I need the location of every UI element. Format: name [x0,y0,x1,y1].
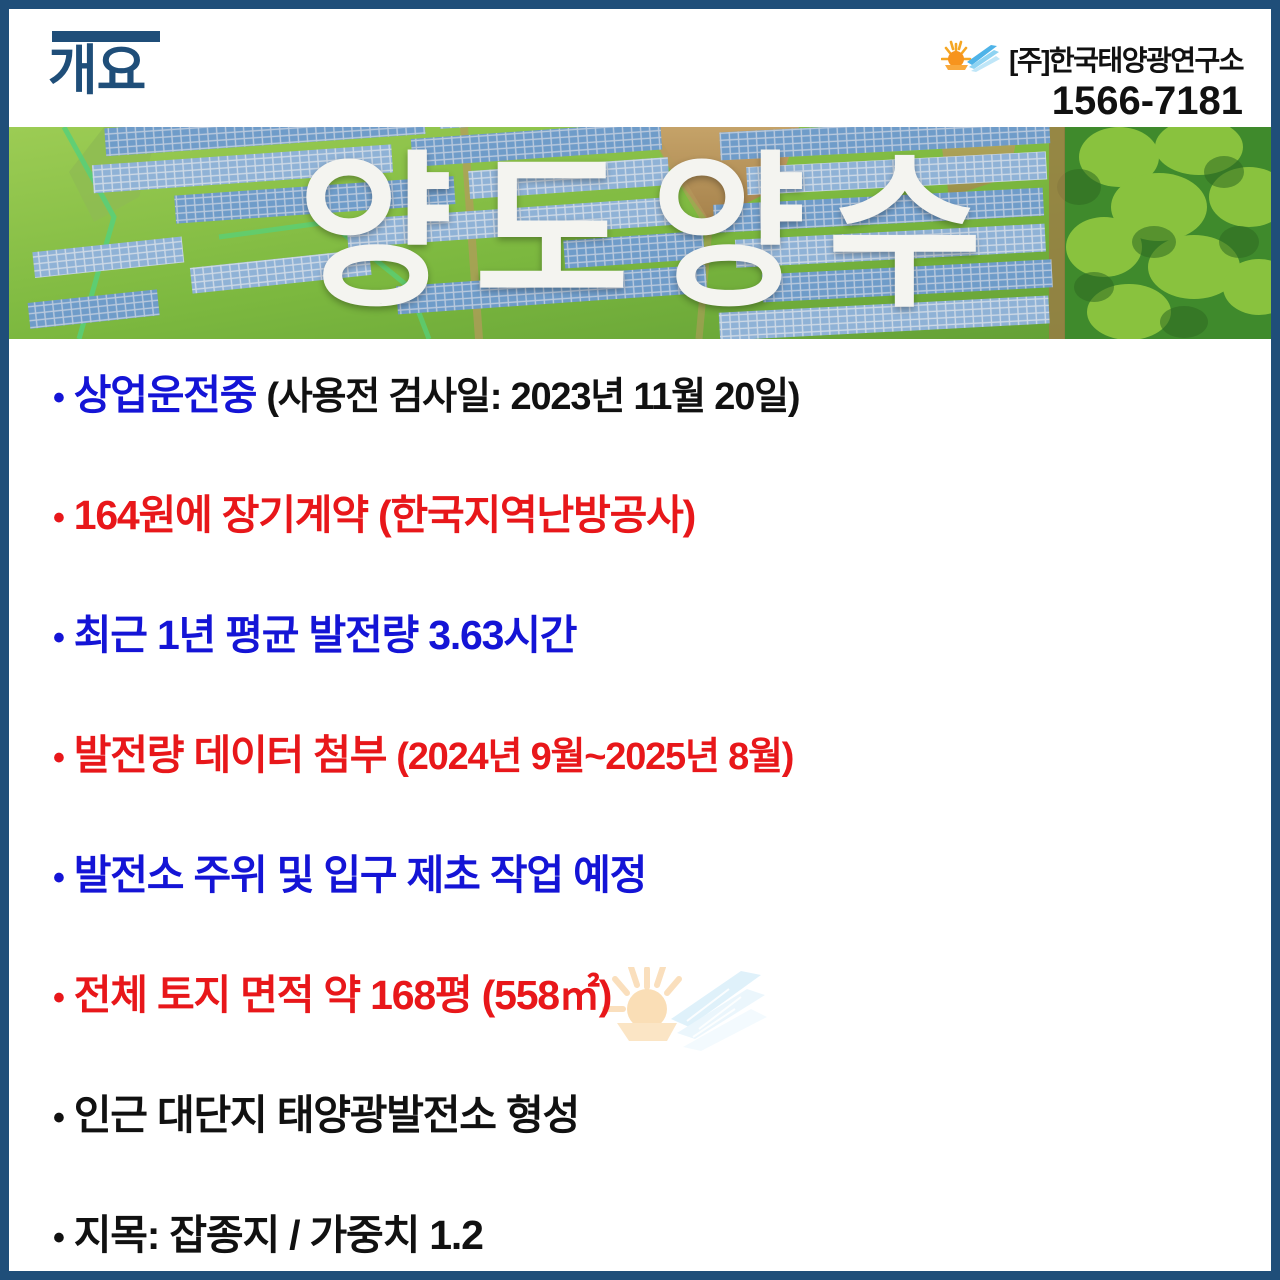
list-item: • 발전량 데이터 첨부 (2024년 9월~2025년 8월) [9,721,1271,841]
list-item: • 인근 대단지 태양광발전소 형성 [9,1081,1271,1201]
bullet-marker: • [53,381,64,415]
bullet-marker: • [53,981,64,1015]
bullet-tail-text: (사용전 검사일: 2023년 11월 20일) [266,365,799,420]
page-header: 개요 [9,9,1271,127]
page-title: 개요 [48,46,178,97]
overview-bullet-list: • 상업운전중 (사용전 검사일: 2023년 11월 20일) • 164원에… [9,361,1271,1280]
section-title-block: 개요 [48,31,178,97]
hero-banner: 양도양수 [9,127,1271,339]
list-item: • 지목: 잡종지 / 가중치 1.2 [9,1201,1271,1280]
bullet-tail-text: (2024년 9월~2025년 8월) [396,725,793,780]
bullet-marker: • [53,621,64,655]
bullet-marker: • [53,741,64,775]
list-item: • 발전소 주위 및 입구 제초 작업 예정 [9,841,1271,961]
slide-page: 개요 [0,0,1280,1280]
bullet-lead-text: 발전소 주위 및 입구 제초 작업 예정 [74,841,646,901]
bullet-marker: • [53,1221,64,1255]
bullet-lead-text: 164원에 장기계약 (한국지역난방공사) [74,481,695,541]
brand-block: [주]한국태양광연구소 1566-7181 [941,39,1243,122]
bullet-lead-text: 지목: 잡종지 / 가중치 1.2 [74,1201,483,1261]
bullet-marker: • [53,1101,64,1135]
bullet-marker: • [53,501,64,535]
sun-solar-panel-logo-icon [941,40,1003,78]
bullet-lead-text: 전체 토지 면적 약 168평 (558㎡) [74,961,611,1021]
list-item: • 상업운전중 (사용전 검사일: 2023년 11월 20일) [9,361,1271,481]
brand-phone-number: 1566-7181 [941,80,1243,122]
page-body: • 상업운전중 (사용전 검사일: 2023년 11월 20일) • 164원에… [9,339,1271,1259]
bullet-lead-text: 최근 1년 평균 발전량 3.63시간 [74,601,577,661]
bullet-marker: • [53,861,64,895]
list-item: • 164원에 장기계약 (한국지역난방공사) [9,481,1271,601]
bullet-lead-text: 발전량 데이터 첨부 [74,721,387,781]
brand-company-name: [주]한국태양광연구소 [1009,39,1243,79]
list-item: • 최근 1년 평균 발전량 3.63시간 [9,601,1271,721]
hero-title: 양도양수 [9,127,1271,339]
list-item: • 전체 토지 면적 약 168평 (558㎡) [9,961,1271,1081]
bullet-lead-text: 상업운전중 [74,361,257,421]
bullet-lead-text: 인근 대단지 태양광발전소 형성 [74,1081,579,1141]
brand-name-row: [주]한국태양광연구소 [941,39,1243,79]
